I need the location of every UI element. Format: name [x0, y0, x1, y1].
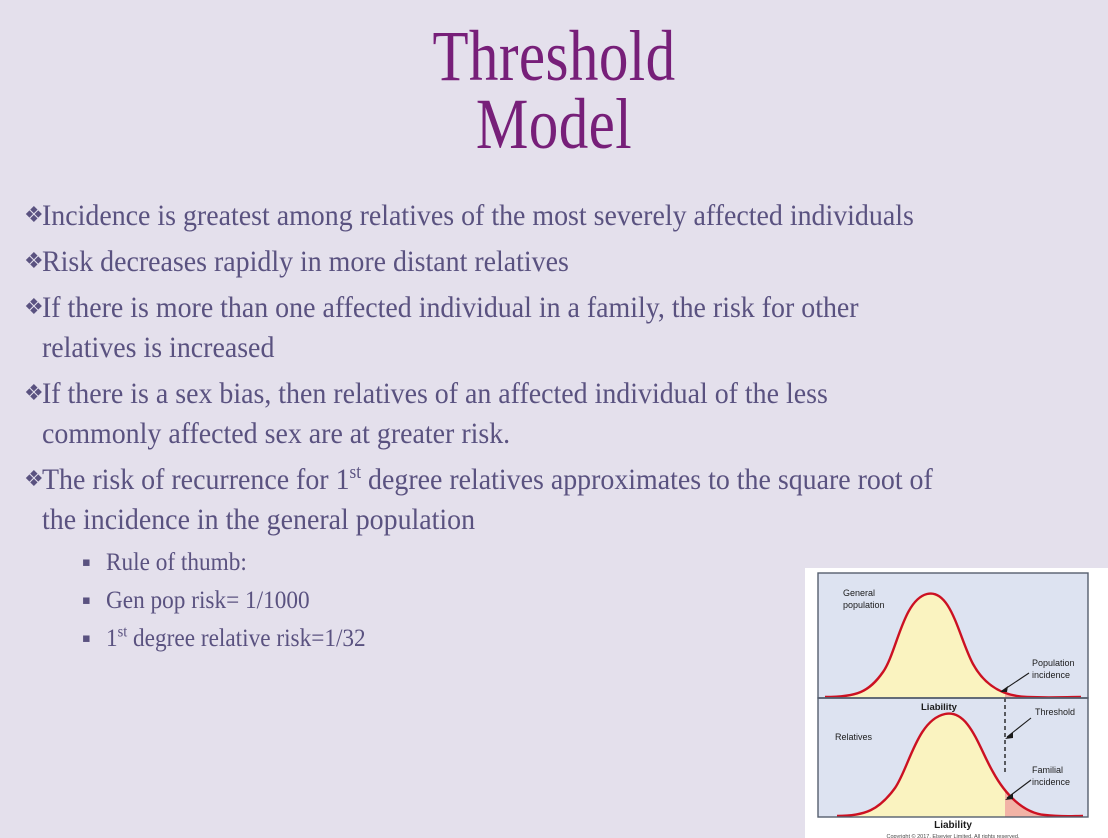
slide: Threshold Model ❖ Incidence is greatest …	[0, 0, 1108, 838]
sub-bullet-marker-icon: ▪	[0, 622, 106, 656]
bullet-item-3-label: If there is more than one affected indiv…	[42, 288, 933, 368]
label-liability-bottom: Liability	[817, 820, 1089, 831]
bullet-marker-icon: ❖	[0, 242, 42, 282]
label-relatives: Relatives	[835, 732, 873, 742]
page-title: Threshold Model	[100, 22, 1009, 159]
sub-bullet-marker-icon: ▪	[0, 546, 106, 580]
sub-bullet-item-3-text-pre: 1	[106, 625, 118, 652]
bullet-item-1-label: Incidence is greatest among relatives of…	[42, 196, 933, 236]
bullet-marker-icon: ❖	[0, 374, 42, 414]
label-familial-incidence-line1: Familial	[1032, 765, 1063, 775]
label-general-population-line1: General	[843, 588, 875, 598]
threshold-model-figure: General population Relatives Population …	[805, 568, 1108, 838]
label-population-incidence-line1: Population	[1032, 658, 1075, 668]
bullet-item-5: ❖ The risk of recurrence for 1st degree …	[0, 460, 1000, 540]
label-population-incidence-line2: incidence	[1032, 670, 1070, 680]
bullet-item-2: ❖ Risk decreases rapidly in more distant…	[0, 242, 1000, 282]
bullet-item-5-label: The risk of recurrence for 1st degree re…	[42, 460, 933, 540]
label-familial-incidence-line2: incidence	[1032, 777, 1070, 787]
label-liability-top: Liability	[921, 702, 958, 713]
bullet-marker-icon: ❖	[0, 460, 42, 500]
figure-copyright: Copyright © 2017, Elsevier Limited. All …	[817, 834, 1089, 838]
label-threshold: Threshold	[1035, 707, 1075, 717]
bullet-item-2-label: Risk decreases rapidly in more distant r…	[42, 242, 933, 282]
bullet-item-1: ❖ Incidence is greatest among relatives …	[0, 196, 1000, 236]
sub-bullet-item-3-text-post: degree relative risk=1/32	[127, 625, 365, 652]
bullet-item-4-label: If there is a sex bias, then relatives o…	[42, 374, 933, 454]
bullet-marker-icon: ❖	[0, 288, 42, 328]
label-general-population-line2: population	[843, 600, 885, 610]
bullet-item-3: ❖ If there is more than one affected ind…	[0, 288, 1000, 368]
bullet-item-4: ❖ If there is a sex bias, then relatives…	[0, 374, 1000, 454]
bullet-marker-icon: ❖	[0, 196, 42, 236]
bullet-item-5-ordinal-suffix: st	[350, 462, 362, 483]
sub-bullet-marker-icon: ▪	[0, 584, 106, 618]
sub-bullet-item-3-ordinal-suffix: st	[118, 624, 128, 641]
liability-curves-chart: General population Relatives Population …	[817, 572, 1089, 818]
figure-inner: General population Relatives Population …	[817, 572, 1102, 838]
bullet-item-5-text-pre: The risk of recurrence for 1	[42, 463, 350, 496]
